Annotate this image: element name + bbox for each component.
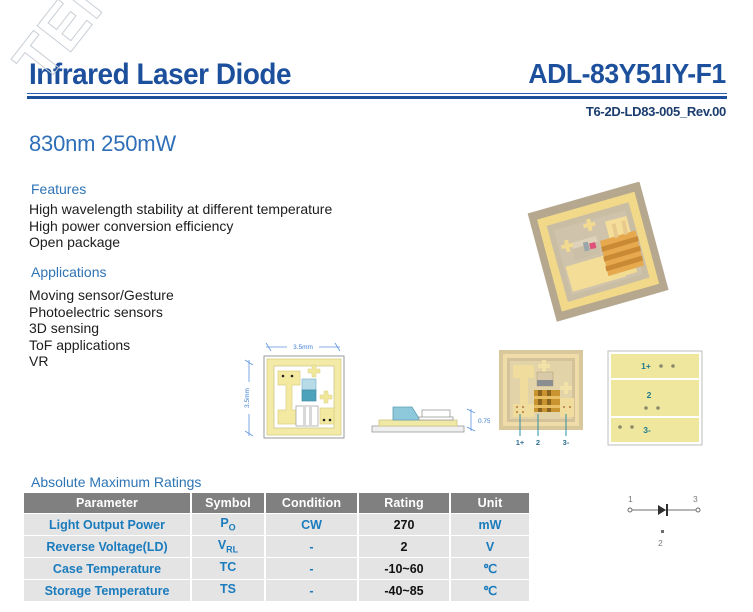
table-row: Reverse Voltage(LD) VRL - 2 V	[24, 536, 529, 557]
cell-parameter: Reverse Voltage(LD)	[24, 536, 190, 557]
chip-photo-image: 1+ 2 3-	[490, 344, 595, 452]
cell-condition: -	[266, 558, 357, 579]
column-header-condition: Condition	[266, 493, 357, 513]
column-header-parameter: Parameter	[24, 493, 190, 513]
cell-unit: V	[451, 536, 529, 557]
symbol-sub: RL	[226, 545, 238, 555]
applications-item: ToF applications	[29, 337, 174, 354]
cell-condition: -	[266, 580, 357, 601]
top-view-drawing: 3.5mm 3.5mm	[240, 338, 360, 448]
features-heading: Features	[31, 181, 86, 197]
cell-symbol: TS	[192, 580, 264, 601]
features-item: Open package	[29, 234, 332, 251]
features-list: High wavelength stability at different t…	[29, 201, 332, 251]
table-header-row: Parameter Symbol Condition Rating Unit	[24, 493, 529, 513]
part-number: ADL-83Y51IY-F1	[529, 58, 726, 90]
cell-rating: -40~85	[359, 580, 449, 601]
cell-rating: 270	[359, 514, 449, 535]
table-row: Case Temperature TC - -10~60 ℃	[24, 558, 529, 579]
features-item: High power conversion efficiency	[29, 218, 332, 235]
applications-item: Photoelectric sensors	[29, 304, 174, 321]
cell-symbol: VRL	[192, 536, 264, 557]
page-title: Infrared Laser Diode	[29, 58, 291, 92]
header-rule-thick	[27, 96, 727, 99]
schematic-terminal-2: 2	[658, 538, 663, 548]
chip-pin-label-1: 1+	[516, 438, 525, 447]
pinout-label-1: 1+	[641, 361, 651, 371]
features-item: High wavelength stability at different t…	[29, 201, 332, 218]
column-header-unit: Unit	[451, 493, 529, 513]
diode-schematic: 1 3 2	[610, 488, 720, 558]
cell-symbol: PO	[192, 514, 264, 535]
applications-item: VR	[29, 353, 174, 370]
applications-item: Moving sensor/Gesture	[29, 287, 174, 304]
table-row: Light Output Power PO CW 270 mW	[24, 514, 529, 535]
document-revision: T6-2D-LD83-005_Rev.00	[586, 104, 726, 119]
cell-unit: ℃	[451, 558, 529, 579]
package-side-view: 0.75mm	[360, 395, 490, 445]
side-view-drawing: 0.75mm	[360, 395, 490, 445]
datasheet-page: TENTATIVE Infrared Laser Diode ADL-83Y51…	[0, 0, 753, 612]
applications-item: 3D sensing	[29, 320, 174, 337]
applications-heading: Applications	[31, 264, 107, 280]
absolute-maximum-ratings-table: Parameter Symbol Condition Rating Unit L…	[22, 492, 531, 602]
pinout-label-2: 2	[647, 390, 652, 400]
column-header-symbol: Symbol	[192, 493, 264, 513]
side-view-height-dim: 0.75mm	[478, 418, 490, 425]
schematic-terminal-1: 1	[628, 494, 633, 504]
cell-parameter: Case Temperature	[24, 558, 190, 579]
cell-condition: CW	[266, 514, 357, 535]
chip-pin-label-3: 3-	[563, 438, 570, 447]
cell-condition: -	[266, 536, 357, 557]
pinout-diagram: 1+ 2 3-	[605, 348, 710, 453]
symbol-base: TS	[220, 582, 236, 596]
cell-parameter: Storage Temperature	[24, 580, 190, 601]
cell-parameter: Light Output Power	[24, 514, 190, 535]
cell-unit: mW	[451, 514, 529, 535]
product-subtitle: 830nm 250mW	[29, 131, 176, 157]
top-view-height-dim: 3.5mm	[244, 388, 251, 408]
cell-unit: ℃	[451, 580, 529, 601]
package-top-view: 3.5mm 3.5mm	[240, 338, 360, 448]
ratings-heading: Absolute Maximum Ratings	[31, 474, 201, 490]
symbol-sub: O	[229, 523, 236, 533]
applications-list: Moving sensor/Gesture Photoelectric sens…	[29, 287, 174, 370]
column-header-rating: Rating	[359, 493, 449, 513]
product-photo	[508, 182, 686, 330]
cell-rating: 2	[359, 536, 449, 557]
chip-photo-with-pins: 1+ 2 3-	[490, 344, 595, 452]
symbol-base: TC	[220, 560, 237, 574]
top-view-width-dim: 3.5mm	[293, 344, 313, 351]
pinout-image: 1+ 2 3-	[605, 348, 710, 453]
cell-symbol: TC	[192, 558, 264, 579]
chip-pin-label-2: 2	[536, 438, 540, 447]
symbol-base: P	[220, 516, 228, 530]
header-rule-thin	[27, 93, 727, 94]
cell-rating: -10~60	[359, 558, 449, 579]
symbol-base: V	[218, 538, 226, 552]
product-photo-image	[508, 182, 686, 330]
schematic-terminal-3: 3	[693, 494, 698, 504]
pinout-label-3: 3-	[643, 425, 651, 435]
schematic-symbol: 1 3 2	[610, 488, 720, 558]
table-row: Storage Temperature TS - -40~85 ℃	[24, 580, 529, 601]
